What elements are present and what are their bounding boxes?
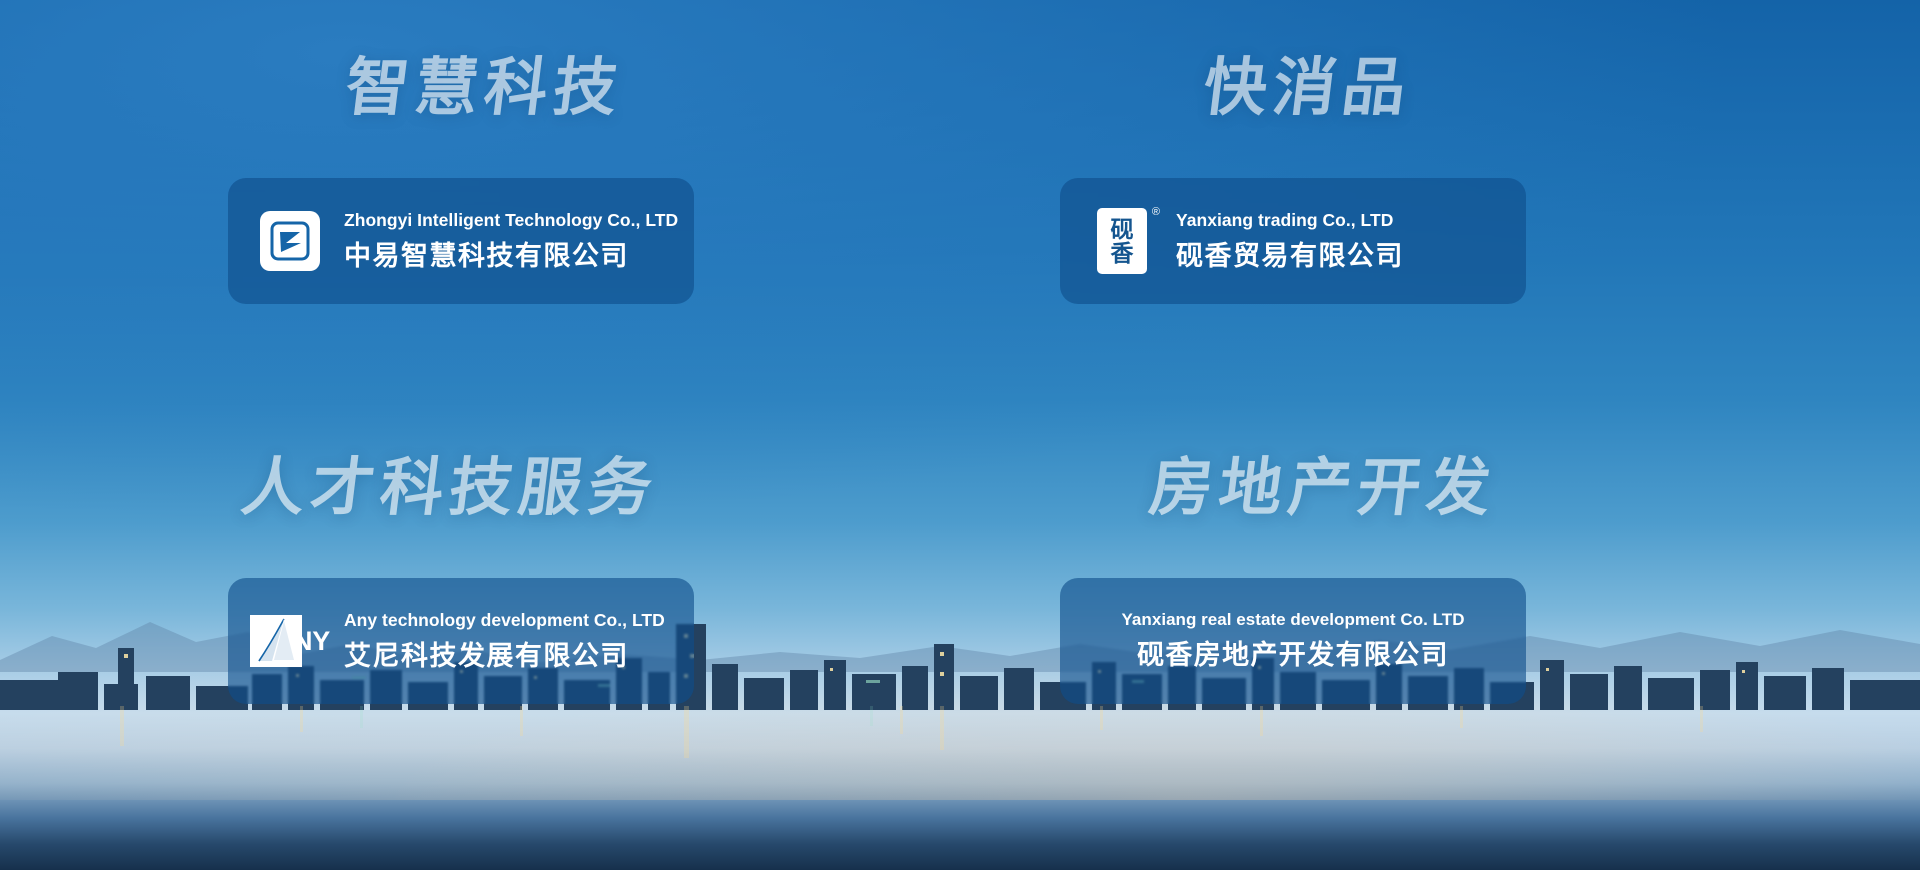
business-segments-grid: 智慧科技 Zhongyi Intelligent Technology Co.,… <box>0 0 1920 870</box>
company-name-cn: 中易智慧科技有限公司 <box>344 234 678 273</box>
registered-mark-icon: ® <box>1152 207 1160 218</box>
segment-smart-technology: 智慧科技 Zhongyi Intelligent Technology Co.,… <box>228 56 862 456</box>
company-name-cn: 砚香贸易有限公司 <box>1176 234 1404 273</box>
segment-title: 快消品 <box>1200 56 1696 119</box>
company-card[interactable]: 砚 香 ® Yanxiang trading Co., LTD 砚香贸易有限公司 <box>1060 178 1526 304</box>
company-name-en: Yanxiang trading Co., LTD <box>1176 210 1404 231</box>
company-names: Yanxiang real estate development Co. LTD… <box>1121 610 1464 672</box>
company-name-cn: 砚香房地产开发有限公司 <box>1137 633 1449 672</box>
company-names: Zhongyi Intelligent Technology Co., LTD … <box>344 210 678 273</box>
seal-char-top: 砚 <box>1111 218 1134 241</box>
seal-char-bottom: 香 <box>1111 242 1134 265</box>
segment-real-estate: 房地产开发 Yanxiang real estate development C… <box>1058 456 1692 856</box>
company-card[interactable]: Yanxiang real estate development Co. LTD… <box>1060 578 1526 704</box>
segment-talent-services: 人才科技服务 NY Any t <box>228 456 862 856</box>
segment-title: 人才科技服务 <box>238 456 866 519</box>
company-name-en: Zhongyi Intelligent Technology Co., LTD <box>344 210 678 231</box>
company-name-en: Any technology development Co., LTD <box>344 610 665 631</box>
zhongyi-logo-icon <box>254 205 326 277</box>
company-names: Any technology development Co., LTD 艾尼科技… <box>344 610 665 673</box>
segment-fmcg: 快消品 砚 香 ® Yanxiang trading Co., LTD 砚香贸易… <box>1058 56 1692 456</box>
yanxiang-seal-logo-icon: 砚 香 ® <box>1086 205 1158 277</box>
company-card[interactable]: Zhongyi Intelligent Technology Co., LTD … <box>228 178 694 304</box>
company-card[interactable]: NY Any technology development Co., LTD 艾… <box>228 578 694 704</box>
company-name-en: Yanxiang real estate development Co. LTD <box>1121 610 1464 630</box>
segment-title: 智慧科技 <box>342 56 866 119</box>
company-names: Yanxiang trading Co., LTD 砚香贸易有限公司 <box>1176 210 1404 273</box>
segment-title: 房地产开发 <box>1146 456 1696 519</box>
company-name-cn: 艾尼科技发展有限公司 <box>344 634 665 673</box>
any-logo-icon: NY <box>254 605 326 677</box>
